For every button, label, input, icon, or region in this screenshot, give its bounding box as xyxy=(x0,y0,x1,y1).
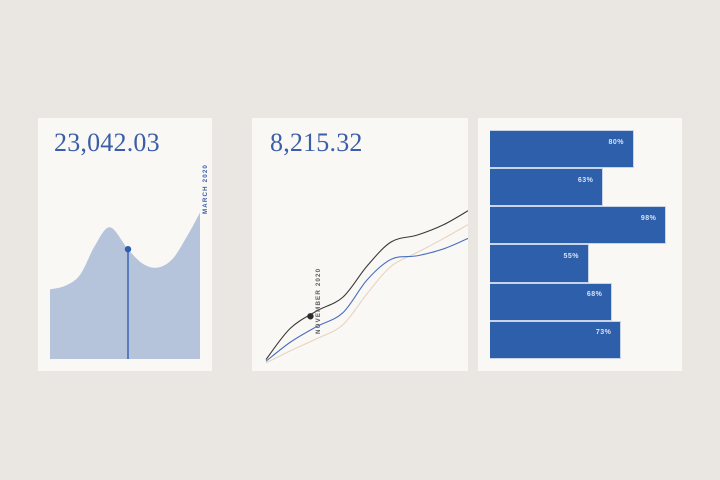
line-chart-panel: 8,215.32 NOVEMBER 2020 xyxy=(252,118,468,371)
bar[interactable]: 73% xyxy=(490,321,621,359)
poster-canvas: 23,042.03 MARCH 2020 8,215.32 NOVEMBER 2… xyxy=(0,0,720,480)
bar-value-label: 80% xyxy=(608,139,624,146)
bar-row[interactable]: 63% xyxy=(490,168,670,206)
bar[interactable]: 55% xyxy=(490,244,589,282)
area-chart-annotation-label: MARCH 2020 xyxy=(202,164,209,214)
bar-value-label: 73% xyxy=(596,329,612,336)
line-chart-annotation-label: NOVEMBER 2020 xyxy=(315,268,322,334)
line-chart-headline: 8,215.32 xyxy=(270,130,363,156)
area-chart-headline: 23,042.03 xyxy=(54,130,160,156)
bar[interactable]: 98% xyxy=(490,206,666,244)
bar-value-label: 55% xyxy=(563,253,579,260)
bar-value-label: 63% xyxy=(578,177,594,184)
bar-row[interactable]: 68% xyxy=(490,283,670,321)
bar-row[interactable]: 98% xyxy=(490,206,670,244)
area-chart-panel: 23,042.03 MARCH 2020 xyxy=(38,118,212,371)
bar[interactable]: 63% xyxy=(490,168,603,206)
bar[interactable]: 68% xyxy=(490,283,612,321)
bar-row[interactable]: 80% xyxy=(490,130,670,168)
bar-row[interactable]: 55% xyxy=(490,244,670,282)
bar-value-label: 98% xyxy=(641,215,657,222)
bar[interactable]: 80% xyxy=(490,130,634,168)
bar-chart-panel: 80%63%98%55%68%73% xyxy=(478,118,682,371)
bar-row[interactable]: 73% xyxy=(490,321,670,359)
bar-value-label: 68% xyxy=(587,291,603,298)
bar-chart-graphic: 80%63%98%55%68%73% xyxy=(490,130,670,359)
